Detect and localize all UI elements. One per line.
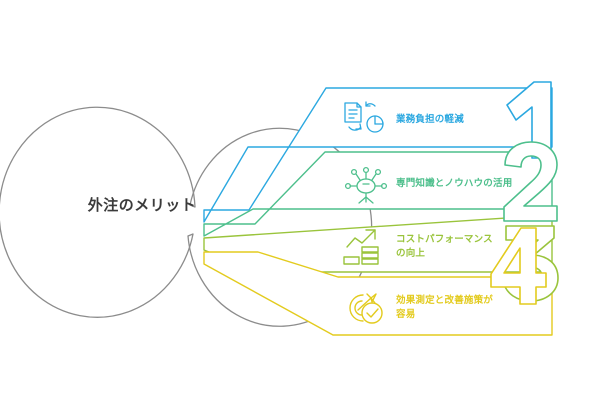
hub-title: 外注のメリット — [42, 196, 242, 214]
outsourcing-benefits-infographic: 外注のメリット 業務負担の軽減 専門知識とノウハウの活用 コストパフォーマンス … — [0, 0, 600, 400]
row-label-3: コストパフォーマンス の向上 — [396, 233, 493, 261]
row-label-2: 専門知識とノウハウの活用 — [396, 177, 512, 191]
row-label-1: 業務負担の軽減 — [396, 113, 464, 127]
row-label-4: 効果測定と改善施策が 容易 — [396, 294, 493, 322]
